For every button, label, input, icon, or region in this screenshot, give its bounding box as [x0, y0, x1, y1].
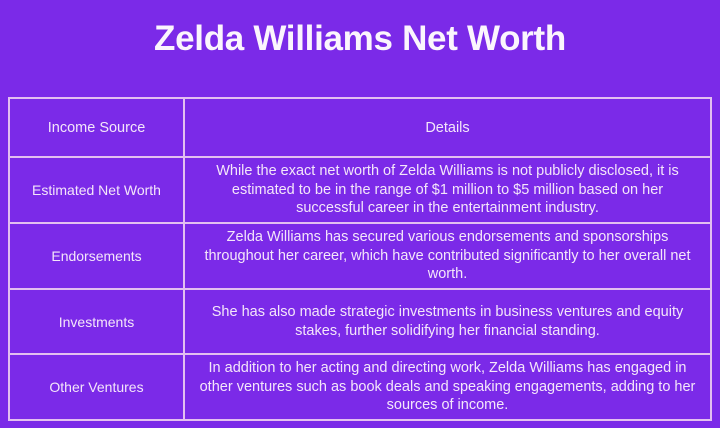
cell-details: In addition to her acting and directing … [184, 354, 711, 420]
table-header: Income Source Details [9, 98, 711, 157]
cell-details: While the exact net worth of Zelda Willi… [184, 157, 711, 223]
table-row: Estimated Net Worth While the exact net … [9, 157, 711, 223]
cell-income-source: Endorsements [9, 223, 184, 289]
column-header-income-source: Income Source [9, 98, 184, 157]
cell-details: She has also made strategic investments … [184, 289, 711, 354]
table-row: Other Ventures In addition to her acting… [9, 354, 711, 420]
cell-details: Zelda Williams has secured various endor… [184, 223, 711, 289]
net-worth-table: Income Source Details Estimated Net Wort… [8, 97, 712, 421]
net-worth-table-container: Income Source Details Estimated Net Wort… [8, 97, 710, 417]
cell-income-source: Estimated Net Worth [9, 157, 184, 223]
cell-income-source: Other Ventures [9, 354, 184, 420]
table-header-row: Income Source Details [9, 98, 711, 157]
page-title: Zelda Williams Net Worth [0, 18, 720, 60]
table-body: Estimated Net Worth While the exact net … [9, 157, 711, 420]
column-header-details: Details [184, 98, 711, 157]
net-worth-infographic: Zelda Williams Net Worth Income Source D… [0, 0, 720, 428]
table-row: Endorsements Zelda Williams has secured … [9, 223, 711, 289]
cell-income-source: Investments [9, 289, 184, 354]
table-row: Investments She has also made strategic … [9, 289, 711, 354]
